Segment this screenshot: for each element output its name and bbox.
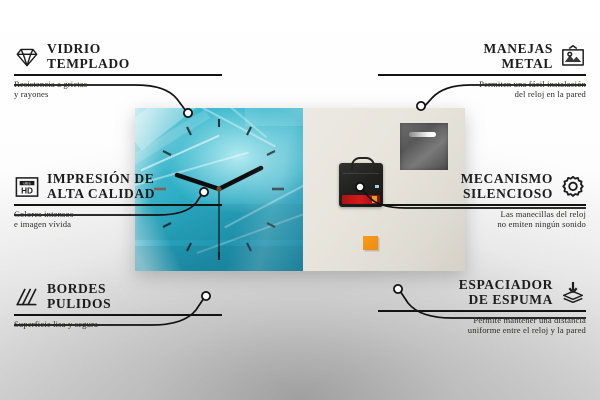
feature-bordes-pulidos: BORDES PULIDOS Superficie lisa y segura [14, 282, 222, 329]
feature-subtitle-line2: e imagen vívida [14, 219, 222, 229]
feature-subtitle-line2: y rayones [14, 89, 222, 99]
svg-text:HD: HD [21, 186, 33, 195]
svg-text:ultra: ultra [23, 181, 31, 185]
feature-impresion-alta-calidad: ultra HD IMPRESIÓN DE ALTA CALIDAD Color… [14, 172, 222, 229]
feature-subtitle-line1: Permiten una fácil instalación [378, 79, 586, 89]
gear-icon [560, 174, 586, 200]
feature-title-line2: ALTA CALIDAD [47, 187, 155, 202]
feature-title-line2: PULIDOS [47, 297, 111, 312]
feature-title-line2: METAL [484, 57, 553, 72]
feature-divider [378, 74, 586, 76]
foam-spacer-icon [560, 280, 586, 306]
feature-subtitle-line1: Las manecillas del reloj [378, 209, 586, 219]
mechanism-seam [343, 173, 379, 174]
feature-title-line1: BORDES [47, 282, 111, 297]
feature-subtitle-line2: uniforme entre el reloj y la pared [378, 325, 586, 335]
feature-title-line2: SILENCIOSO [461, 187, 553, 202]
feature-divider [14, 74, 222, 76]
feature-title-line1: IMPRESIÓN DE [47, 172, 155, 187]
diamond-icon [14, 44, 40, 70]
hanger-slot [409, 132, 436, 137]
feature-title-line2: DE ESPUMA [459, 293, 553, 308]
feature-divider [14, 314, 222, 316]
metal-hanger-plate [400, 123, 448, 170]
feature-title-line1: ESPACIADOR [459, 278, 553, 293]
feature-espaciador-espuma: ESPACIADOR DE ESPUMA Permite mantener un… [378, 278, 586, 335]
feature-divider [378, 204, 586, 206]
feature-subtitle-line2: del reloj en la pared [378, 89, 586, 99]
aa-battery [342, 195, 380, 204]
feature-subtitle-line1: Permite mantener una distancia [378, 315, 586, 325]
quartz-mechanism-box [339, 163, 383, 207]
feature-mecanismo-silencioso: MECANISMO SILENCIOSO Las manecillas del … [378, 172, 586, 229]
infographic-canvas: VIDRIO TEMPLADO Resistencia a grietas y … [0, 0, 600, 400]
feature-title-line1: MECANISMO [461, 172, 553, 187]
ultra-hd-badge-icon: ultra HD [14, 174, 40, 200]
feature-divider [14, 204, 222, 206]
feature-subtitle-line1: Colores intensos [14, 209, 222, 219]
feature-subtitle-line1: Superficie lisa y segura [14, 319, 222, 329]
hanging-loop [351, 157, 375, 170]
feature-title-line1: VIDRIO [47, 42, 130, 57]
polished-edges-icon [14, 284, 40, 310]
feature-title-line1: MANEJAS [484, 42, 553, 57]
feature-manejas-metal: MANEJAS METAL Permiten una fácil instala… [378, 42, 586, 99]
feature-title-line2: TEMPLADO [47, 57, 130, 72]
picture-hanger-icon [560, 44, 586, 70]
orange-foam-spacer [363, 236, 378, 250]
feature-vidrio-templado: VIDRIO TEMPLADO Resistencia a grietas y … [14, 42, 222, 99]
feature-subtitle-line2: no emiten ningún sonido [378, 219, 586, 229]
feature-subtitle-line1: Resistencia a grietas [14, 79, 222, 89]
feature-divider [378, 310, 586, 312]
